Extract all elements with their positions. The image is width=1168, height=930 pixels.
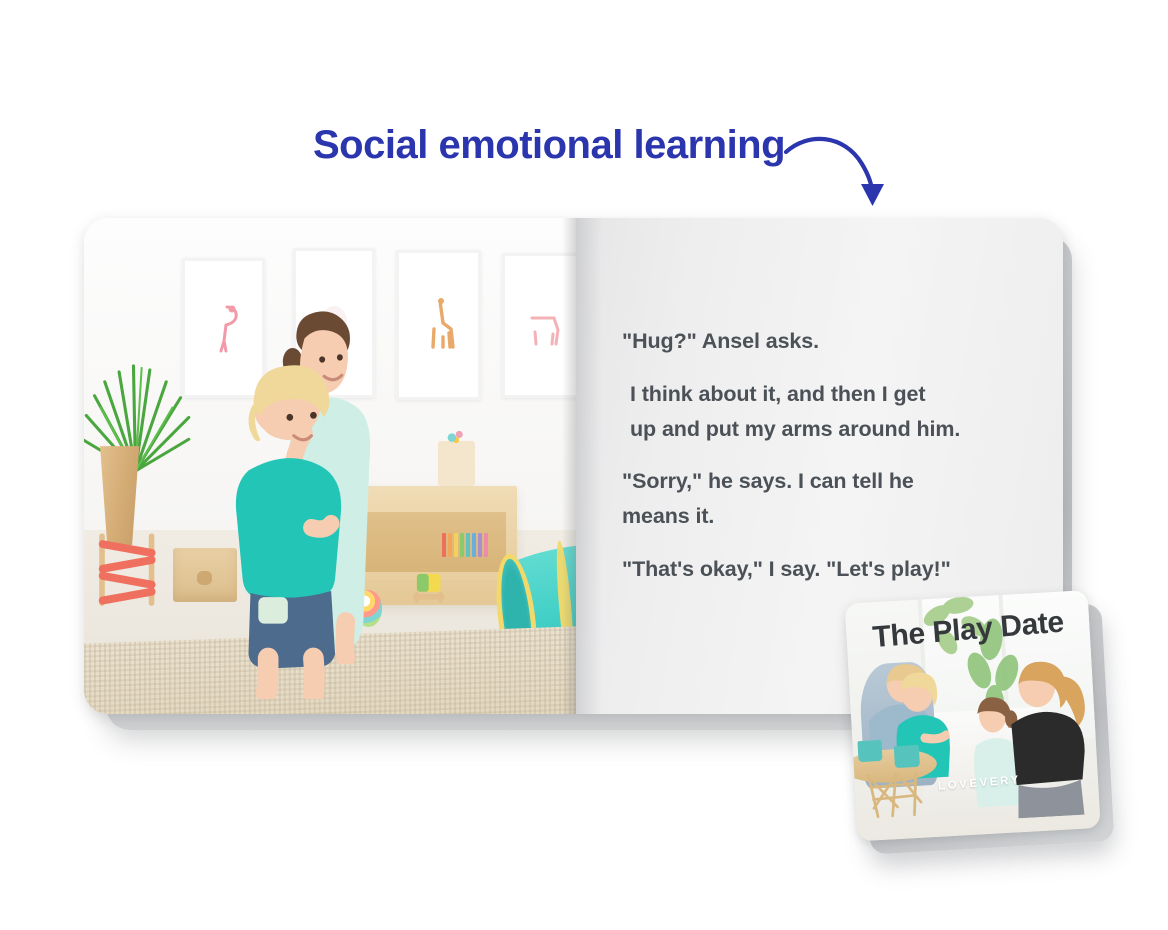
story-text: "Hug?" Ansel asks. I think about it, and… (622, 324, 1042, 587)
framed-print-4 (502, 253, 576, 398)
table-legs (859, 770, 935, 826)
story-line-1: "Hug?" Ansel asks. (622, 324, 1042, 359)
story-line-3a: "Sorry," he says. I can tell he (622, 469, 914, 493)
toy-basket (438, 441, 475, 486)
story-line-2b: up and put my arms around him. (630, 417, 960, 441)
book-cover-thumbnail[interactable]: The Play Date LOVEVERY (845, 589, 1128, 872)
child-boy (217, 352, 365, 699)
curved-arrow-icon (782, 126, 902, 216)
teal-cup-1 (857, 740, 882, 763)
palm-plant (84, 352, 197, 481)
framed-giraffe-print (396, 250, 481, 400)
teal-cup-2 (894, 745, 919, 768)
adult-right (1004, 657, 1095, 818)
story-line-4: "That's okay," I say. "Let's play!" (622, 552, 1042, 587)
story-line-2a: I think about it, and then I get (630, 382, 925, 406)
book-page-left-photo (84, 218, 576, 714)
page-gutter-shadow (576, 218, 602, 714)
thumbnail-front-cover: The Play Date LOVEVERY (845, 590, 1101, 841)
story-line-3b: means it. (622, 504, 714, 528)
shelf-books (442, 533, 494, 557)
story-line-2: I think about it, and then I get up and … (622, 377, 1042, 447)
zigzag-ramp-toy (96, 530, 160, 609)
playroom-photo (84, 218, 576, 714)
roller-toy (409, 565, 448, 610)
story-line-3: "Sorry," he says. I can tell he means it… (622, 464, 1042, 534)
page-title: Social emotional learning (313, 123, 785, 168)
